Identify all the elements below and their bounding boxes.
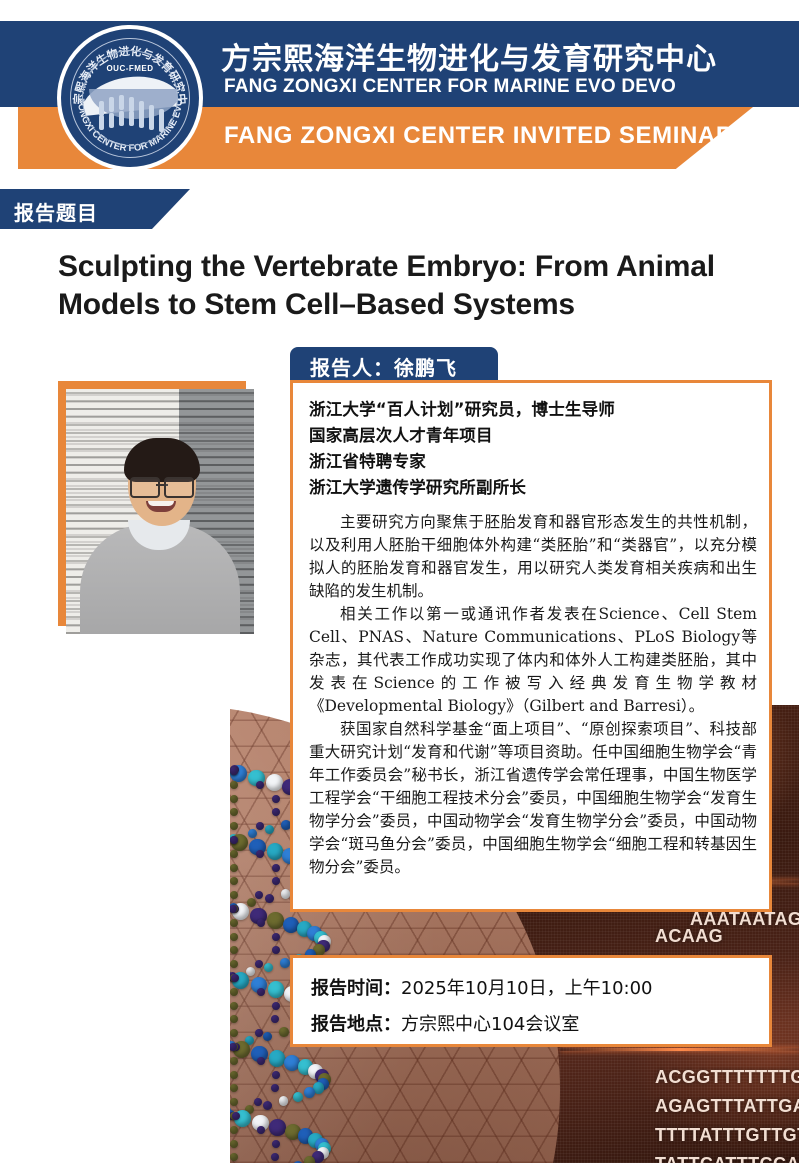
time-label: 报告时间：	[311, 978, 401, 999]
seminar-poster: TCTTC ATACAA CTACA ATGAG ACAAG AAATAATAG…	[0, 0, 799, 1163]
credential-line: 浙江省特聘专家	[309, 449, 757, 475]
logo-dna-helix-icon	[97, 95, 169, 131]
bio-paragraph: 相关工作以第一或通讯作者发表在Science、Cell Stem Cell、PN…	[309, 603, 757, 718]
photo-frame-left	[58, 381, 66, 626]
speaker-tag: 报告人：徐鹏飞	[290, 347, 498, 380]
seminar-place-row: 报告地点：方宗熙中心104会议室	[311, 1010, 579, 1036]
place-value: 方宗熙中心104会议室	[401, 1014, 579, 1035]
seminar-banner-label: FANG ZONGXI CENTER INVITED SEMINAR	[224, 122, 734, 150]
topic-tab-label: 报告题目	[14, 197, 98, 226]
talk-title: Sculpting the Vertebrate Embryo: From An…	[58, 248, 758, 324]
time-value: 2025年10月10日，上午10:00	[401, 978, 653, 999]
seminar-time-row: 报告时间：2025年10月10日，上午10:00	[311, 974, 653, 1000]
center-name-en: FANG ZONGXI CENTER FOR MARINE EVO DEVO	[224, 76, 676, 98]
seminar-details-box: 报告时间：2025年10月10日，上午10:00 报告地点：方宗熙中心104会议…	[290, 955, 772, 1047]
portrait-glasses-icon	[130, 477, 194, 494]
ouc-fmed-logo-icon: 方宗熙海洋生物进化与发育研究中心 FANG ZONGXI CENTER FOR …	[57, 25, 203, 171]
glow-line	[560, 1048, 799, 1051]
photo-frame-top	[58, 381, 246, 389]
bio-paragraph: 主要研究方向聚焦于胚胎发育和器官形态发生的共性机制，以及利用人胚胎干细胞体外构建…	[309, 511, 757, 603]
place-label: 报告地点：	[311, 1014, 401, 1035]
speaker-portrait-image	[66, 389, 254, 634]
credential-line: 国家高层次人才青年项目	[309, 423, 757, 449]
portrait-hair	[124, 438, 200, 482]
white-cut-wedge	[0, 690, 230, 1163]
sequence-text-bottom: ACGGTTTTTTTGA AGAGTTTATTGACC TTTTATTTGTT…	[655, 1063, 799, 1163]
speaker-tag-label: 报告人：徐鹏飞	[310, 352, 457, 381]
speaker-bio-box: 浙江大学“百人计划”研究员，博士生导师 国家高层次人才青年项目 浙江省特聘专家 …	[290, 380, 772, 912]
center-name-cn: 方宗熙海洋生物进化与发育研究中心	[221, 34, 717, 78]
bio-paragraph: 获国家自然科学基金“面上项目”、“原创探索项目”、科技部重大研究计划“发育和代谢…	[309, 718, 757, 879]
speaker-photo	[58, 381, 254, 634]
logo-abbreviation: OUC-FMED	[57, 64, 203, 73]
credential-line: 浙江大学“百人计划”研究员，博士生导师	[309, 397, 757, 423]
credential-line: 浙江大学遗传学研究所副所长	[309, 475, 757, 501]
